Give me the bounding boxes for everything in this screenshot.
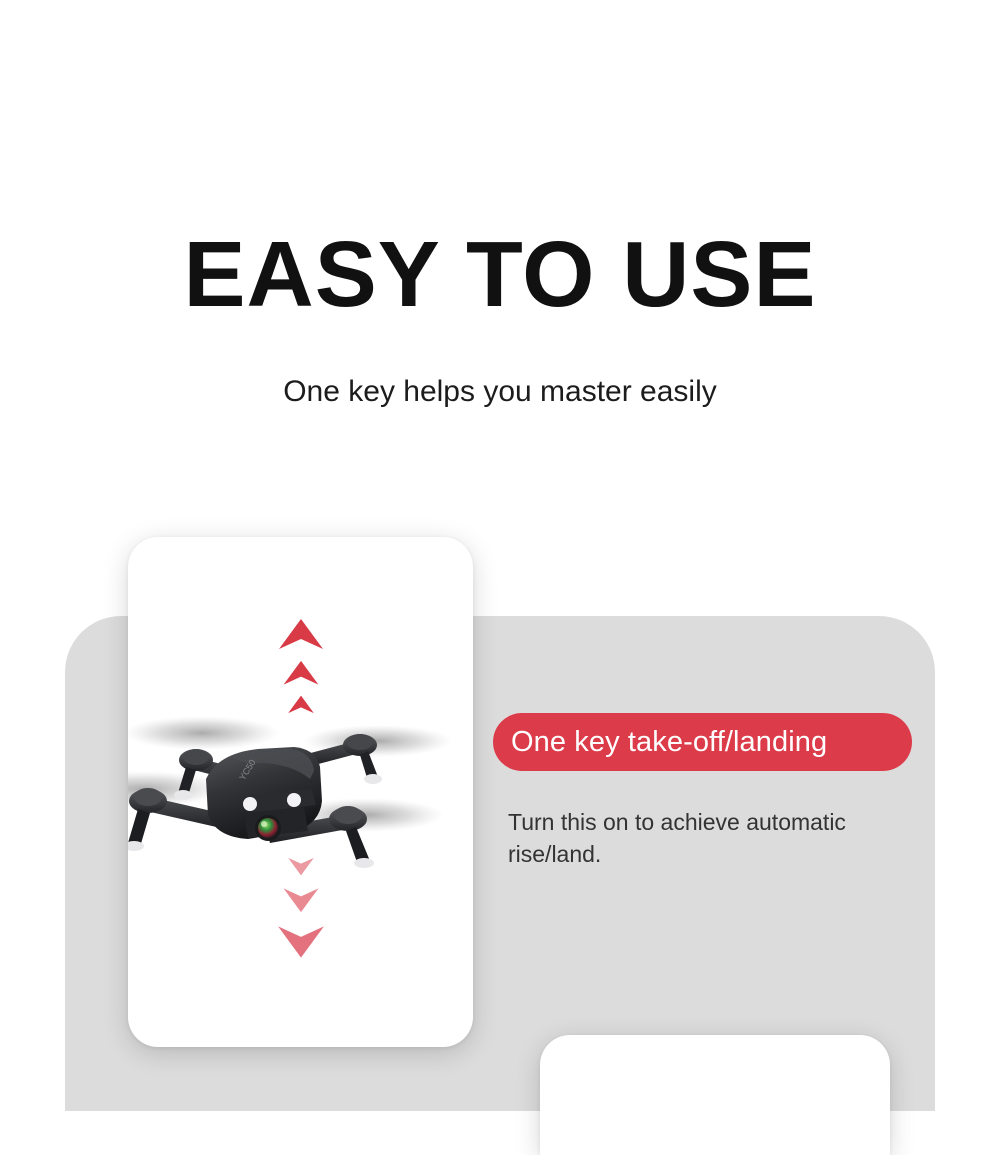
feature-badge-label: One key take-off/landing [511, 726, 827, 759]
chevron-up-icon [282, 659, 320, 688]
next-feature-card [540, 1035, 890, 1155]
product-feature-page: EASY TO USE One key helps you master eas… [0, 0, 1000, 1111]
page-title: EASY TO USE [0, 228, 1000, 321]
page-subtitle: One key helps you master easily [0, 374, 1000, 410]
chevron-up-icon [277, 617, 325, 653]
feature-description: Turn this on to achieve automatic rise/l… [508, 806, 908, 870]
product-image-card: YC50 [128, 537, 473, 1047]
feature-badge: One key take-off/landing [493, 713, 912, 771]
chevron-down-icon [276, 922, 326, 960]
chevron-down-icon [287, 855, 315, 877]
descend-arrow-group [128, 855, 473, 960]
chevron-down-icon [282, 885, 320, 914]
